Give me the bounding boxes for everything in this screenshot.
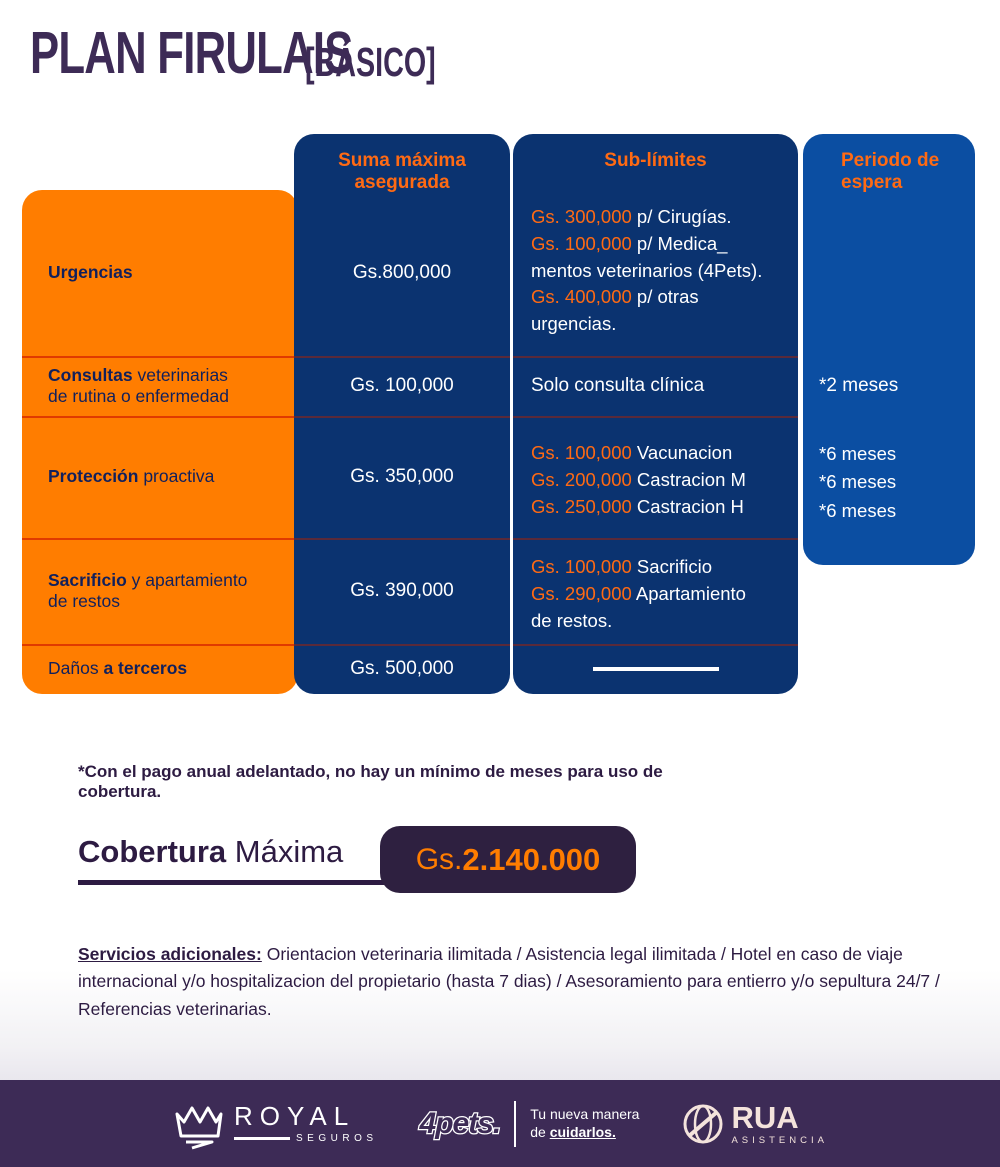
table-cell-suma: Gs.800,000	[294, 190, 510, 356]
sublimit-amount: Gs. 100,000	[531, 233, 632, 254]
coverage-underline	[78, 880, 408, 885]
row-label-consultas: Consultas veterinarias de rutina o enfer…	[48, 365, 229, 408]
sublimit-line: mentos veterinarios (4Pets).	[531, 258, 798, 285]
crown-icon	[172, 1098, 226, 1150]
sublimit-text: mentos veterinarios (4Pets).	[531, 260, 762, 281]
sublimit-line: Gs. 100,000 p/ Medica_	[531, 231, 798, 258]
sublimit-line: Gs. 400,000 p/ otras	[531, 284, 798, 311]
row-label-sacrificio: Sacrificio y apartamiento de restos	[48, 570, 247, 613]
column-header-sublimites: Sub-límites	[513, 134, 798, 172]
row-label-danos: Daños a terceros	[48, 658, 187, 679]
table-cell-periodo	[803, 190, 975, 356]
table-column-suma-maxima: Suma máxima asegurada Gs.800,000 Gs. 100…	[294, 134, 510, 694]
pets-tagline-bold: cuidarlos.	[550, 1124, 616, 1140]
royal-sub-row: SEGUROS	[234, 1133, 378, 1144]
additional-services-heading: Servicios adicionales:	[78, 944, 262, 964]
sublimit-amount: Gs. 100,000	[531, 442, 632, 463]
row-label-danos-prefix: Daños	[48, 658, 103, 678]
sublimit-line: urgencias.	[531, 311, 798, 338]
coverage-amount: 2.140.000	[462, 842, 600, 878]
sublimit-amount: Gs. 250,000	[531, 496, 632, 517]
coverage-amount-badge: Gs. 2.140.000	[380, 826, 636, 893]
page-title: PLAN FIRULAIS [BÁSICO]	[30, 26, 667, 81]
pets-tagline-pre: de	[530, 1124, 549, 1140]
sublimit-line: de restos.	[531, 608, 798, 635]
table-cell-suma: Gs. 100,000	[294, 356, 510, 416]
sublimit-text: p/ Medica_	[632, 233, 728, 254]
royal-name: ROYAL	[234, 1103, 355, 1129]
periodo-value-castracion-m: *6 meses	[819, 468, 975, 496]
rua-wordmark: RUA ASISTENCIA	[731, 1102, 828, 1146]
value-suma-sacrificio: Gs. 390,000	[350, 580, 454, 602]
row-label-sacrificio-bold: Sacrificio	[48, 570, 127, 590]
row-label-proteccion: Protección proactiva	[48, 466, 214, 487]
sublimit-line: Gs. 290,000 Apartamiento	[531, 581, 798, 608]
logo-4pets: 4pets. Tu nueva manera de cuidarlos.	[420, 1101, 640, 1147]
sublimit-line: Gs. 100,000 Sacrificio	[531, 554, 798, 581]
row-label-consultas-bold: Consultas	[48, 365, 133, 385]
table-cell-suma: Gs. 350,000	[294, 416, 510, 538]
table-cell-suma: Gs. 500,000	[294, 644, 510, 694]
row-label-danos-bold: a terceros	[103, 658, 187, 678]
pets-tagline-line1: Tu nueva manera	[530, 1106, 639, 1124]
column-header-line1: Periodo de	[841, 150, 939, 171]
divider	[514, 1101, 516, 1147]
sublimit-line: Gs. 100,000 Vacunacion	[531, 440, 798, 467]
periodo-value-vacunacion: *6 meses	[819, 440, 975, 468]
rua-sub: ASISTENCIA	[731, 1135, 828, 1146]
table-row: Urgencias	[22, 190, 298, 356]
pets-tagline-line2: de cuidarlos.	[530, 1124, 639, 1142]
table-cell-sublimites: Solo consulta clínica	[513, 356, 798, 416]
table-column-sublimites: Sub-límites Gs. 300,000 p/ Cirugías. Gs.…	[513, 134, 798, 694]
logo-rua-asistencia: RUA ASISTENCIA	[681, 1102, 828, 1146]
row-label-urgencias: Urgencias	[48, 262, 133, 283]
empty-value-dash-icon	[593, 667, 719, 671]
pets-tagline: Tu nueva manera de cuidarlos.	[530, 1106, 639, 1141]
column-header-line1: Suma máxima	[338, 150, 466, 171]
table-row: Daños a terceros	[22, 644, 298, 694]
rua-name: RUA	[731, 1102, 798, 1133]
row-label-sacrificio-rest2: de restos	[48, 591, 120, 611]
sublimit-amount: Gs. 300,000	[531, 206, 632, 227]
row-label-sacrificio-rest1: y apartamiento	[127, 570, 248, 590]
table-cell-sublimites: Gs. 100,000 Vacunacion Gs. 200,000 Castr…	[513, 416, 798, 538]
coverage-label: Cobertura Máxima	[78, 834, 343, 870]
coverage-currency: Gs.	[416, 843, 463, 877]
value-suma-consultas: Gs. 100,000	[350, 375, 454, 397]
value-suma-danos: Gs. 500,000	[350, 658, 454, 680]
column-header-suma-maxima: Suma máxima asegurada	[294, 134, 510, 194]
sublimit-line: Gs. 250,000 Castracion H	[531, 494, 798, 521]
table-cell-sublimites: Gs. 100,000 Sacrificio Gs. 290,000 Apart…	[513, 538, 798, 644]
value-suma-urgencias: Gs.800,000	[353, 262, 451, 284]
sublimit-amount: Gs. 290,000	[531, 583, 632, 604]
pets-wordmark: 4pets.	[420, 1107, 501, 1141]
table-cell-sublimites: Gs. 300,000 p/ Cirugías. Gs. 100,000 p/ …	[513, 190, 798, 356]
table-row: Protección proactiva	[22, 416, 298, 538]
table-cell-periodo: *6 meses *6 meses *6 meses	[803, 416, 975, 538]
column-header-periodo-espera: Periodo de espera	[803, 134, 975, 194]
periodo-value-castracion-h: *6 meses	[819, 497, 975, 525]
sublimit-text: Castracion M	[632, 469, 746, 490]
royal-wordmark: ROYAL SEGUROS	[234, 1103, 378, 1144]
row-label-proteccion-bold: Protección	[48, 466, 138, 486]
table-cell-sublimites	[513, 644, 798, 694]
plan-firulais-basico-sheet: PLAN FIRULAIS [BÁSICO] Urgencias Consult…	[0, 0, 1000, 1167]
row-label-proteccion-rest: proactiva	[138, 466, 214, 486]
periodo-value-consultas: *2 meses	[819, 375, 898, 397]
sublimit-text: Solo consulta clínica	[531, 375, 704, 397]
row-label-consultas-rest1: veterinarias	[133, 365, 228, 385]
table-column-concepto: Urgencias Consultas veterinarias de ruti…	[22, 190, 298, 694]
row-label-consultas-rest2: de rutina o enfermedad	[48, 386, 229, 406]
coverage-label-rest: Máxima	[226, 834, 343, 869]
table-cell-suma: Gs. 390,000	[294, 538, 510, 644]
coverage-label-bold: Cobertura	[78, 834, 226, 869]
footnote-anual: *Con el pago anual adelantado, no hay un…	[78, 762, 698, 803]
table-row: Consultas veterinarias de rutina o enfer…	[22, 356, 298, 416]
sublimit-text: p/ otras	[632, 286, 699, 307]
sublimit-text: p/ Cirugías.	[632, 206, 732, 227]
table-column-periodo-espera: Periodo de espera *2 meses *6 meses *6 m…	[803, 134, 975, 565]
sublimit-amount: Gs. 100,000	[531, 556, 632, 577]
royal-rule	[234, 1137, 290, 1140]
sublimit-line: Gs. 300,000 p/ Cirugías.	[531, 204, 798, 231]
sublimit-text: Sacrificio	[632, 556, 712, 577]
sublimit-amount: Gs. 400,000	[531, 286, 632, 307]
sublimit-text: urgencias.	[531, 313, 616, 334]
footer-logo-bar: ROYAL SEGUROS 4pets. Tu nueva manera de …	[0, 1080, 1000, 1167]
sublimit-amount: Gs. 200,000	[531, 469, 632, 490]
sublimit-line: Gs. 200,000 Castracion M	[531, 467, 798, 494]
value-suma-proteccion: Gs. 350,000	[350, 466, 454, 488]
additional-services: Servicios adicionales: Orientacion veter…	[78, 941, 946, 1023]
table-cell-periodo: *2 meses	[803, 356, 975, 416]
page-title-variant: [BÁSICO]	[305, 43, 436, 82]
table-row: Sacrificio y apartamiento de restos	[22, 538, 298, 644]
sublimit-text: Vacunacion	[632, 442, 732, 463]
logo-royal-seguros: ROYAL SEGUROS	[172, 1098, 378, 1150]
globe-swoosh-icon	[681, 1102, 725, 1146]
sublimit-text: Castracion H	[632, 496, 744, 517]
sublimit-text: Apartamiento	[632, 583, 746, 604]
royal-sub: SEGUROS	[296, 1133, 378, 1144]
sublimit-text: de restos.	[531, 610, 612, 631]
